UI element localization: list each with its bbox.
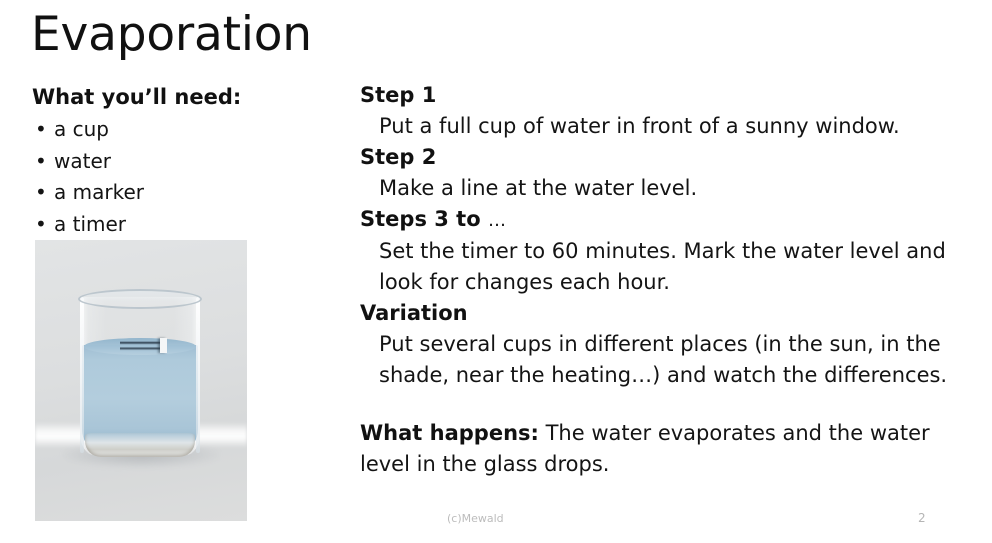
list-item-label: water: [54, 149, 111, 173]
list-item: • a timer: [32, 209, 332, 241]
marker-tip: [160, 338, 167, 353]
step-1-heading: Step 1: [360, 80, 976, 111]
slide: Evaporation What you’ll need: • a cup • …: [0, 0, 992, 543]
step-1-heading-label: Step 1: [360, 83, 436, 107]
bullet-icon: •: [35, 114, 47, 146]
materials-section: What you’ll need: • a cup • water • a ma…: [32, 83, 332, 240]
list-item: • water: [32, 146, 332, 178]
drinking-glass: [76, 289, 204, 461]
marker-line: [120, 341, 164, 352]
glass-left-edge: [80, 297, 84, 453]
variation-body: Put several cups in different places (in…: [360, 329, 976, 391]
outcome-paragraph: What happens: The water evaporates and t…: [360, 418, 976, 480]
materials-heading: What you’ll need:: [32, 83, 332, 111]
list-item-label: a cup: [54, 117, 109, 141]
variation-heading: Variation: [360, 298, 976, 329]
step-3-heading-label: Steps 3 to: [360, 207, 481, 231]
list-item: • a cup: [32, 114, 332, 146]
materials-list: • a cup • water • a marker • a timer: [32, 114, 332, 240]
step-3-body: Set the timer to 60 minutes. Mark the wa…: [360, 236, 976, 298]
procedure-section: Step 1 Put a full cup of water in front …: [360, 80, 976, 480]
outcome-label: What happens:: [360, 421, 539, 445]
bullet-icon: •: [35, 177, 47, 209]
glass-right-edge: [196, 297, 200, 453]
step-2-heading-label: Step 2: [360, 145, 436, 169]
list-item-label: a timer: [54, 212, 126, 236]
footer-credit: (c)Mewald: [447, 512, 504, 526]
step-3-heading-ellipsis: …: [488, 210, 506, 231]
list-item-label: a marker: [54, 180, 144, 204]
glass-of-water-photo: [35, 240, 247, 521]
bullet-icon: •: [35, 146, 47, 178]
variation-heading-label: Variation: [360, 301, 468, 325]
bullet-icon: •: [35, 209, 47, 241]
step-2-body: Make a line at the water level.: [360, 173, 976, 204]
step-3-heading: Steps 3 to …: [360, 204, 976, 236]
page-title: Evaporation: [31, 6, 312, 64]
list-item: • a marker: [32, 177, 332, 209]
glass-rim: [78, 289, 202, 309]
page-number: 2: [918, 511, 926, 525]
step-2-heading: Step 2: [360, 142, 976, 173]
glass-base: [85, 433, 195, 457]
step-1-body: Put a full cup of water in front of a su…: [360, 111, 976, 142]
